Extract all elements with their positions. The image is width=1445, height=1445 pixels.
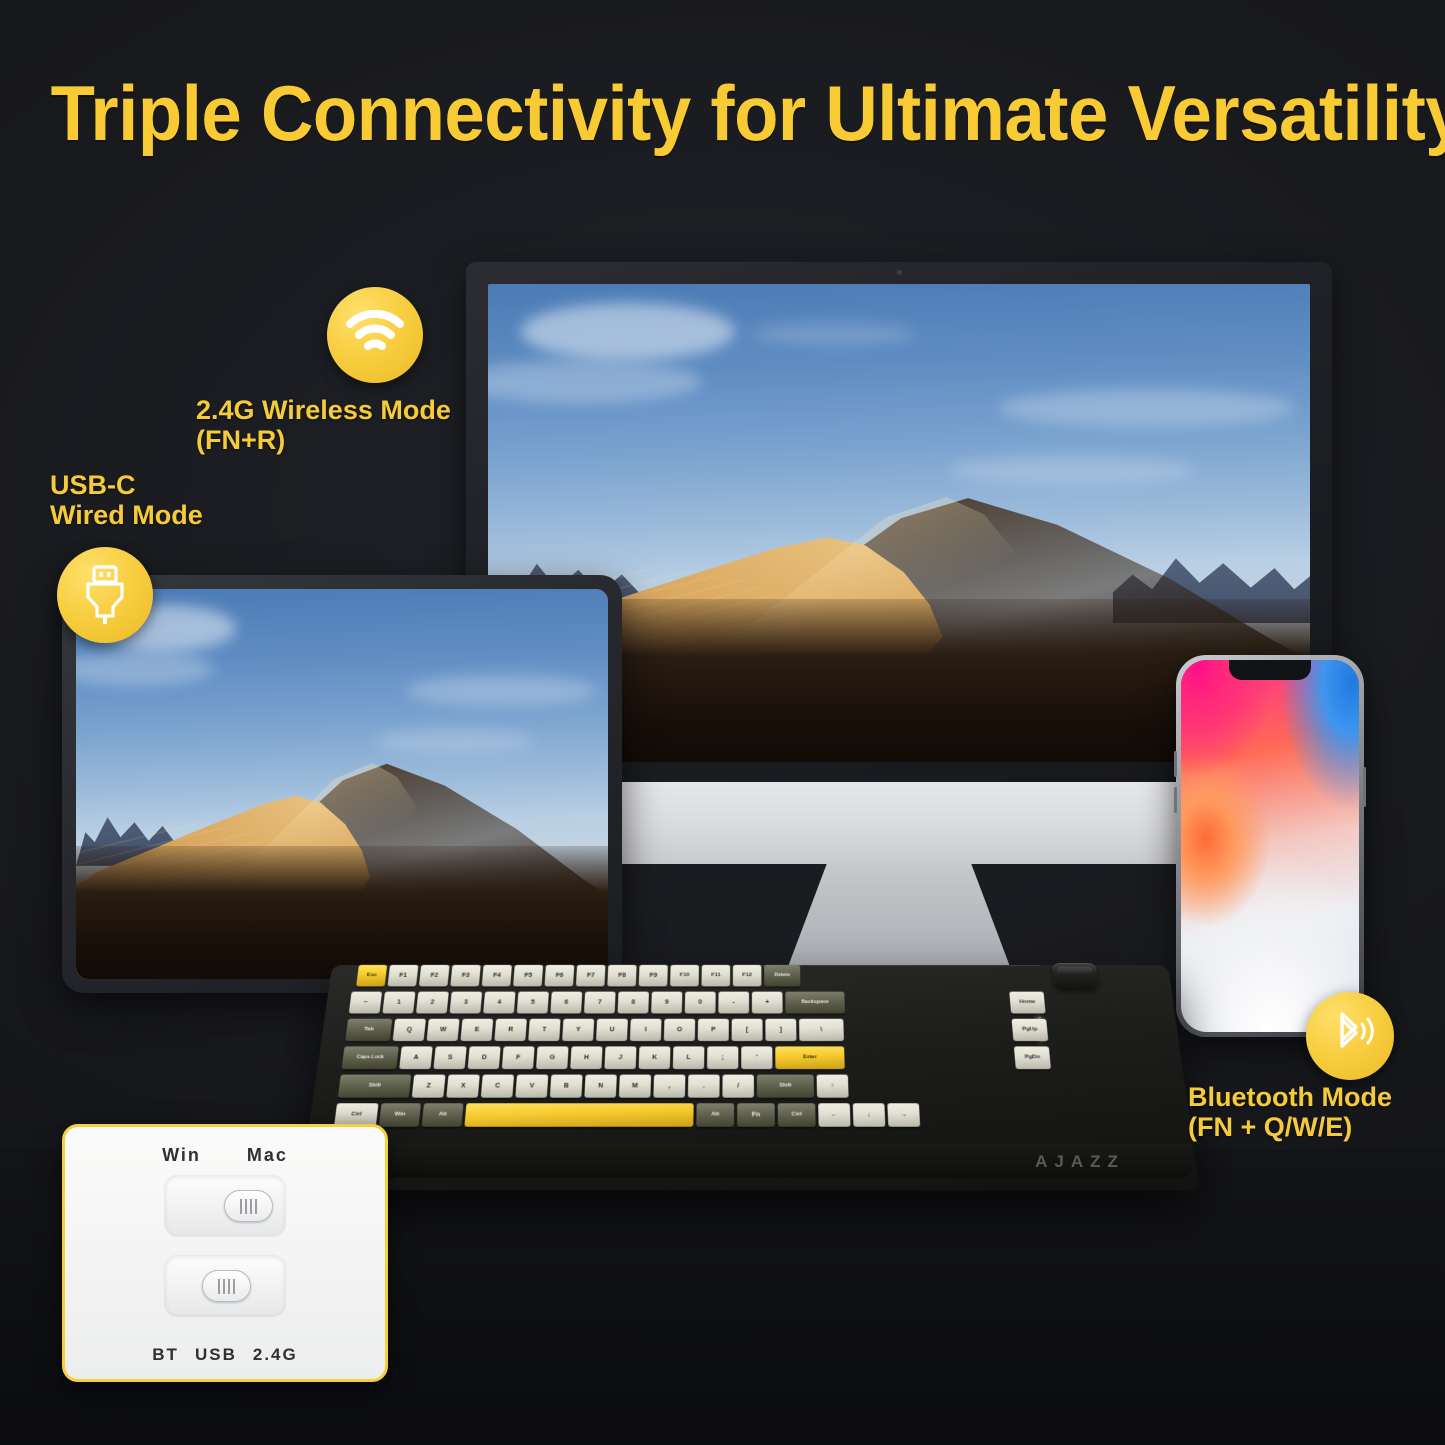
key-a[interactable]: A	[399, 1046, 433, 1069]
key--[interactable]: →	[887, 1103, 920, 1127]
key-f2[interactable]: F2	[419, 965, 450, 986]
wireless-mode-label: 2.4G Wireless Mode (FN+R)	[196, 395, 496, 455]
key-0[interactable]: 0	[685, 992, 716, 1014]
volume-down-button[interactable]	[1174, 787, 1177, 813]
key-tab[interactable]: Tab	[345, 1019, 392, 1041]
key-k[interactable]: K	[639, 1046, 671, 1069]
key-l[interactable]: L	[673, 1046, 705, 1069]
phone-body	[1176, 655, 1364, 1037]
volume-up-button[interactable]	[1174, 751, 1177, 777]
key--[interactable]: ,	[653, 1075, 685, 1098]
key--[interactable]: ~	[349, 992, 382, 1014]
bluetooth-mode-label: Bluetooth Mode (FN + Q/W/E)	[1188, 1082, 1438, 1142]
key-i[interactable]: I	[630, 1019, 662, 1041]
key-f6[interactable]: F6	[544, 965, 574, 986]
rotary-knob[interactable]	[1052, 963, 1098, 989]
key-o[interactable]: O	[664, 1019, 695, 1041]
wired-mode-line1: USB-C	[50, 470, 310, 500]
key-d[interactable]: D	[468, 1046, 501, 1069]
key-f9[interactable]: F9	[639, 965, 668, 986]
key-f8[interactable]: F8	[607, 965, 636, 986]
key-2[interactable]: 2	[416, 992, 449, 1014]
key-3[interactable]: 3	[450, 992, 483, 1014]
key-home[interactable]: Home	[1009, 992, 1045, 1014]
phone-notch	[1229, 660, 1311, 680]
key-f11[interactable]: F11	[701, 965, 730, 986]
key-f10[interactable]: F10	[670, 965, 699, 986]
key-f4[interactable]: F4	[482, 965, 512, 986]
key-m[interactable]: M	[619, 1075, 651, 1098]
bluetooth-mode-line1: Bluetooth Mode	[1188, 1082, 1438, 1112]
key-shift[interactable]: Shift	[338, 1075, 411, 1098]
key-e[interactable]: E	[460, 1019, 493, 1041]
connection-toggle-thumb[interactable]	[202, 1270, 251, 1302]
key-fn[interactable]: Fn	[737, 1103, 775, 1127]
key-h[interactable]: H	[570, 1046, 602, 1069]
os-toggle-thumb[interactable]	[224, 1190, 273, 1222]
key-p[interactable]: P	[698, 1019, 729, 1041]
label-win: Win	[162, 1145, 201, 1166]
key--[interactable]: +	[752, 992, 783, 1014]
key--[interactable]: ]	[765, 1019, 796, 1041]
key--[interactable]: \	[799, 1019, 844, 1041]
key-alt[interactable]: Alt	[422, 1103, 464, 1127]
key-1[interactable]: 1	[382, 992, 415, 1014]
keyboard-row: TabQWERTYUIOP[]\	[345, 1019, 844, 1041]
key-caps-lock[interactable]: Caps Lock	[342, 1046, 399, 1069]
wireless-mode-line1: 2.4G Wireless Mode	[196, 395, 496, 425]
key--[interactable]: ;	[707, 1046, 738, 1069]
key-n[interactable]: N	[584, 1075, 617, 1098]
key-s[interactable]: S	[433, 1046, 466, 1069]
key-ctrl[interactable]: Ctrl	[778, 1103, 816, 1127]
keyboard-row: EscF1F2F3F4F5F6F7F8F9F10F11F12Delete	[356, 965, 800, 986]
mojave-wallpaper-tablet	[76, 589, 608, 979]
tablet-screen	[76, 589, 608, 979]
keyboard-row: Caps LockASDFGHJKL;'Enter	[342, 1046, 845, 1069]
key--[interactable]: ↑	[817, 1075, 849, 1098]
key-z[interactable]: Z	[412, 1075, 446, 1098]
keyboard-row: ShiftZXCVBNM,./Shift↑	[338, 1075, 849, 1098]
key-esc[interactable]: Esc	[356, 965, 387, 986]
key-w[interactable]: W	[427, 1019, 460, 1041]
key-u[interactable]: U	[596, 1019, 628, 1041]
bluetooth-icon	[1306, 992, 1394, 1080]
phone-screen	[1181, 660, 1359, 1032]
key-r[interactable]: R	[494, 1019, 527, 1041]
key-6[interactable]: 6	[550, 992, 582, 1014]
keyboard-row: CtrlWinAltAltFnCtrl←↓→	[334, 1103, 920, 1127]
mechanical-keyboard: C W B EscF1F2F3F4F5F6F7F8F9F10F11F12Dele…	[300, 930, 1200, 1200]
key--[interactable]: ←	[818, 1103, 850, 1127]
webcam-icon	[897, 270, 902, 275]
key-v[interactable]: V	[515, 1075, 548, 1098]
keyboard-row: PgDn	[1014, 1046, 1051, 1069]
key-4[interactable]: 4	[483, 992, 515, 1014]
key-pgdn[interactable]: PgDn	[1014, 1046, 1051, 1069]
usb-plug-icon	[57, 547, 153, 643]
key-g[interactable]: G	[536, 1046, 569, 1069]
key--[interactable]: .	[688, 1075, 720, 1098]
mode-switch-panel: Win Mac BT USB 2.4G	[62, 1124, 388, 1382]
key--[interactable]: ↓	[853, 1103, 886, 1127]
keyboard-row: PgUp	[1012, 1019, 1049, 1041]
wireless-mode-line2: (FN+R)	[196, 425, 496, 455]
key--[interactable]: '	[741, 1046, 772, 1069]
key-shift[interactable]: Shift	[757, 1075, 814, 1098]
key-9[interactable]: 9	[651, 992, 682, 1014]
key-pgup[interactable]: PgUp	[1012, 1019, 1049, 1041]
key-backspace[interactable]: Backspace	[785, 992, 845, 1014]
key-f5[interactable]: F5	[513, 965, 543, 986]
key-t[interactable]: T	[528, 1019, 560, 1041]
label-bt: BT	[152, 1345, 179, 1365]
key-f12[interactable]: F12	[733, 965, 762, 986]
os-switch-labels: Win Mac	[65, 1145, 385, 1166]
key-q[interactable]: Q	[393, 1019, 426, 1041]
os-toggle-switch[interactable]	[165, 1175, 285, 1235]
key-alt[interactable]: Alt	[696, 1103, 734, 1127]
wired-mode-label: USB-C Wired Mode	[50, 470, 310, 530]
label-usb: USB	[195, 1345, 237, 1365]
key-win[interactable]: Win	[379, 1103, 421, 1127]
key-y[interactable]: Y	[562, 1019, 594, 1041]
key-delete[interactable]: Delete	[764, 965, 800, 986]
key--[interactable]: /	[722, 1075, 754, 1098]
keyboard-keys-plate: C W B EscF1F2F3F4F5F6F7F8F9F10F11F12Dele…	[322, 965, 1178, 1142]
keyboard-row: Home	[1009, 992, 1045, 1014]
key-enter[interactable]: Enter	[775, 1046, 845, 1069]
bluetooth-mode-line2: (FN + Q/W/E)	[1188, 1112, 1438, 1142]
key-x[interactable]: X	[446, 1075, 480, 1098]
connection-switch-labels: BT USB 2.4G	[65, 1345, 385, 1365]
key-j[interactable]: J	[604, 1046, 636, 1069]
key--[interactable]: [	[732, 1019, 763, 1041]
power-button[interactable]	[1363, 767, 1366, 807]
page-title: Triple Connectivity for Ultimate Versati…	[51, 68, 1395, 159]
key-f3[interactable]: F3	[450, 965, 480, 986]
smartphone-device	[1176, 655, 1364, 1037]
key-7[interactable]: 7	[584, 992, 616, 1014]
connection-toggle-switch[interactable]	[165, 1255, 285, 1315]
key-c[interactable]: C	[481, 1075, 514, 1098]
key--[interactable]: -	[718, 992, 749, 1014]
key-8[interactable]: 8	[618, 992, 649, 1014]
label-mac: Mac	[247, 1145, 288, 1166]
keyboard-row: ~1234567890-+Backspace	[349, 992, 845, 1014]
wifi-icon	[327, 287, 423, 383]
key-f7[interactable]: F7	[576, 965, 606, 986]
key-f1[interactable]: F1	[387, 965, 418, 986]
key-f[interactable]: F	[502, 1046, 535, 1069]
key-5[interactable]: 5	[517, 992, 549, 1014]
iphone-gradient-wallpaper	[1181, 660, 1359, 1032]
label-24g: 2.4G	[253, 1345, 298, 1365]
key-b[interactable]: B	[550, 1075, 583, 1098]
product-feature-image: Triple Connectivity for Ultimate Versati…	[0, 0, 1445, 1445]
brand-logo: AJAZZ	[1000, 1152, 1160, 1172]
wired-mode-line2: Wired Mode	[50, 500, 310, 530]
key-space[interactable]	[464, 1103, 693, 1127]
